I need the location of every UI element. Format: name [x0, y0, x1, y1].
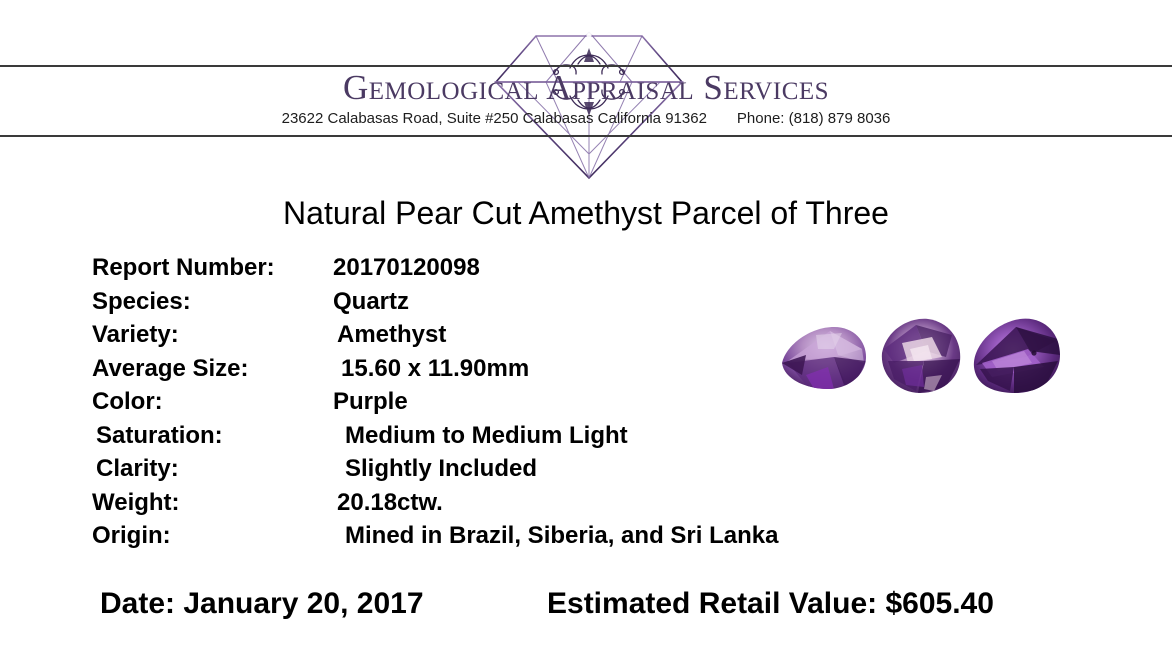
spec-label: Saturation: [96, 420, 223, 451]
spec-value: 15.60 x 11.90mm [341, 353, 529, 384]
appraisal-date: Date: January 20, 2017 [100, 585, 424, 623]
spec-label: Weight: [92, 487, 180, 518]
company-phone: Phone: (818) 879 8036 [737, 110, 890, 127]
spec-label: Species: [92, 286, 191, 317]
spec-value: 20170120098 [333, 252, 480, 283]
document-header: Gemological Appraisal Services 23622 Cal… [0, 0, 1172, 185]
spec-label: Clarity: [96, 453, 179, 484]
estimated-retail-value: Estimated Retail Value: $605.40 [547, 585, 994, 623]
header-rule-top [0, 65, 1172, 67]
spec-value: Amethyst [337, 319, 446, 350]
spec-value: 20.18ctw. [337, 487, 443, 518]
spec-row-saturation: Saturation: Medium to Medium Light [92, 420, 912, 454]
header-rule-bottom [0, 135, 1172, 137]
spec-value: Purple [333, 386, 408, 417]
spec-value: Mined in Brazil, Siberia, and Sri Lanka [345, 520, 778, 551]
header-contact-line: 23622 Calabasas Road, Suite #250 Calabas… [0, 110, 1172, 128]
amethyst-stone-2 [882, 319, 960, 393]
spec-row-weight: Weight: 20.18ctw. [92, 487, 912, 521]
gemstone-photo [776, 305, 1066, 405]
document-footer: Date: January 20, 2017 Estimated Retail … [0, 585, 1172, 625]
spec-row-report-number: Report Number: 20170120098 [92, 252, 912, 286]
spec-label: Average Size: [92, 353, 249, 384]
spec-value: Slightly Included [345, 453, 537, 484]
spec-row-origin: Origin: Mined in Brazil, Siberia, and Sr… [92, 520, 912, 554]
spec-label: Origin: [92, 520, 171, 551]
amethyst-stone-3 [974, 319, 1060, 393]
company-address: 23622 Calabasas Road, Suite #250 Calabas… [282, 110, 707, 127]
amethyst-stone-1 [782, 327, 866, 389]
spec-label: Color: [92, 386, 163, 417]
page-title: Natural Pear Cut Amethyst Parcel of Thre… [0, 193, 1172, 233]
spec-value: Medium to Medium Light [345, 420, 628, 451]
spec-value: Quartz [333, 286, 409, 317]
spec-label: Variety: [92, 319, 179, 350]
spec-row-clarity: Clarity: Slightly Included [92, 453, 912, 487]
company-name: Gemological Appraisal Services [0, 70, 1172, 106]
spec-label: Report Number: [92, 252, 275, 283]
